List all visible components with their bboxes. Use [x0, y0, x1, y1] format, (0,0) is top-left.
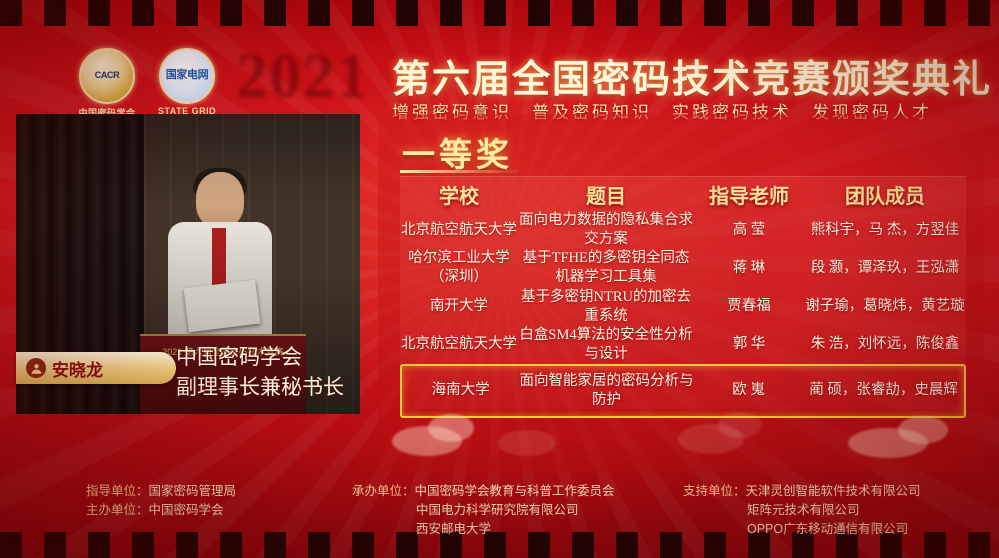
footer-column-supporters: 支持单位：天津灵创智能软件技术有限公司 矩阵元技术有限公司 OPPO广东移动通信… — [683, 482, 921, 538]
footer-value: 西安邮电大学 — [416, 522, 491, 536]
event-title: 第六届全国密码技术竞赛颁奖典礼 — [392, 48, 992, 103]
broadcast-frame: CACR 中国密码学会 国家电网 STATE GRID 2021 第六届全国密码… — [0, 0, 999, 558]
cell-advisor: 欧 嵬 — [694, 381, 803, 400]
footer-value: 国家密码管理局 — [149, 484, 237, 498]
footer-label: 指导单位： — [86, 484, 149, 498]
cell-members: 蔺 硕，张睿劼，史晨辉 — [803, 381, 964, 400]
footer-value: OPPO广东移动通信有限公司 — [747, 522, 908, 536]
cell-topic: 面向电力数据的隐私集合求交方案 — [518, 211, 694, 249]
cell-advisor: 高 莹 — [694, 221, 804, 240]
award-table: 学校 题目 指导老师 团队成员 北京航空航天大学 面向电力数据的隐私集合求交方案… — [400, 176, 966, 409]
speaker-role: 中国密码学会 副理事长兼秘书长 — [176, 342, 366, 403]
state-grid-emblem-icon: 国家电网 — [159, 48, 215, 104]
speaker-role-line-2: 副理事长兼秘书长 — [176, 372, 366, 402]
footer-line: 指导单位：国家密码管理局 — [86, 482, 236, 501]
footer-line: 支持单位：天津灵创智能软件技术有限公司 — [683, 482, 921, 501]
footer-line: 承办单位：中国密码学会教育与科普工作委员会 — [352, 482, 615, 501]
footer-column-hosts: 承办单位：中国密码学会教育与科普工作委员会 中国电力科学研究院有限公司 西安邮电… — [352, 482, 615, 538]
footer-label: 主办单位： — [86, 503, 149, 517]
cell-members: 谢子瑜，葛晓炜，黄艺璇 — [804, 297, 966, 316]
cell-school: 海南大学 — [402, 381, 519, 400]
table-row: 北京航空航天大学 面向电力数据的隐私集合求交方案 高 莹 熊科宇，马 杰，方翌佳 — [400, 211, 966, 249]
cell-members: 朱 浩，刘怀远，陈俊鑫 — [804, 335, 966, 354]
footer-value: 矩阵元技术有限公司 — [747, 503, 860, 517]
speaker-name: 安晓龙 — [52, 356, 103, 381]
footer-label: 承办单位： — [352, 484, 415, 498]
cell-members: 段 灏，谭泽玖，王泓潇 — [804, 259, 966, 278]
prize-title-underline — [400, 170, 524, 173]
table-row: 南开大学 基于多密钥NTRU的加密去重系统 贾春福 谢子瑜，葛晓炜，黄艺璇 — [400, 288, 966, 326]
cell-school: 北京航空航天大学 — [400, 335, 518, 354]
cacr-logo-mark: CACR — [95, 71, 119, 80]
footer-value: 中国密码学会 — [149, 503, 224, 517]
footer-value: 中国密码学会教育与科普工作委员会 — [415, 484, 615, 498]
footer-label: 支持单位： — [683, 484, 746, 498]
cell-school: 北京航空航天大学 — [400, 221, 518, 240]
cell-advisor: 贾春福 — [694, 297, 804, 316]
cell-advisor: 蒋 琳 — [694, 259, 804, 278]
sponsor-footer: 指导单位：国家密码管理局 主办单位：中国密码学会 承办单位：中国密码学会教育与科… — [0, 478, 999, 548]
state-grid-logo-mark: 国家电网 — [166, 70, 208, 82]
footer-line: 主办单位：中国密码学会 — [86, 501, 236, 520]
footer-value: 中国电力科学研究院有限公司 — [416, 503, 579, 517]
cell-topic: 白盒SM4算法的安全性分析与设计 — [518, 326, 694, 364]
cell-advisor: 郭 华 — [694, 335, 804, 354]
cell-topic: 基于多密钥NTRU的加密去重系统 — [518, 288, 694, 326]
table-row: 北京航空航天大学 白盒SM4算法的安全性分析与设计 郭 华 朱 浩，刘怀远，陈俊… — [400, 326, 966, 364]
footer-line: 西安邮电大学 — [352, 520, 615, 539]
event-year: 2021 — [236, 38, 370, 111]
state-grid-logo: 国家电网 STATE GRID — [150, 48, 224, 110]
footer-line: 矩阵元技术有限公司 — [683, 501, 921, 520]
footer-column-organizers: 指导单位：国家密码管理局 主办单位：中国密码学会 — [86, 482, 236, 520]
column-header-school: 学校 — [400, 180, 518, 209]
cell-members: 熊科宇，马 杰，方翌佳 — [804, 221, 966, 240]
award-table-header: 学校 题目 指导老师 团队成员 — [400, 177, 966, 211]
auspicious-cloud-decoration — [378, 410, 984, 472]
cell-school: 哈尔滨工业大学（深圳） — [400, 249, 518, 287]
prize-title: 一等奖 — [402, 128, 513, 176]
person-icon — [26, 358, 46, 378]
speaker-role-line-1: 中国密码学会 — [176, 342, 366, 372]
column-header-advisor: 指导老师 — [694, 180, 804, 209]
cacr-emblem-icon: CACR — [79, 48, 135, 104]
cell-topic: 面向智能家居的密码分析与防护 — [519, 372, 694, 410]
event-header: CACR 中国密码学会 国家电网 STATE GRID 2021 第六届全国密码… — [0, 18, 999, 114]
cell-topic: 基于TFHE的多密钥全同态机器学习工具集 — [518, 249, 694, 287]
cell-school: 南开大学 — [400, 297, 518, 316]
cacr-logo: CACR 中国密码学会 — [70, 48, 144, 110]
footer-line: OPPO广东移动通信有限公司 — [683, 520, 921, 539]
footer-line: 中国电力科学研究院有限公司 — [352, 501, 615, 520]
table-row: 哈尔滨工业大学（深圳） 基于TFHE的多密钥全同态机器学习工具集 蒋 琳 段 灏… — [400, 249, 966, 287]
footer-value: 天津灵创智能软件技术有限公司 — [746, 484, 921, 498]
speaker-name-badge: 安晓龙 — [16, 352, 176, 384]
column-header-topic: 题目 — [518, 180, 694, 209]
column-header-members: 团队成员 — [804, 180, 966, 209]
